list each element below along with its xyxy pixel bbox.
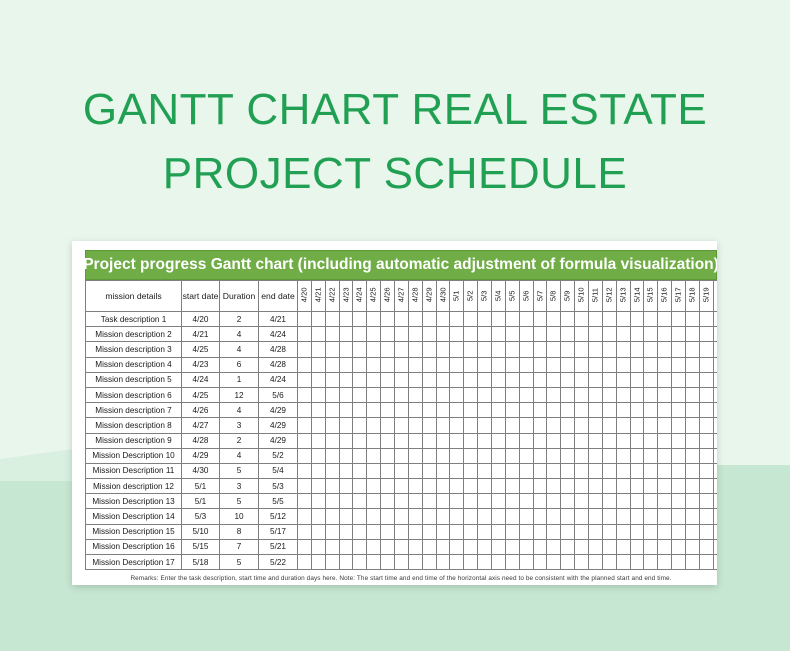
cell-task[interactable]: Mission description 2 xyxy=(86,327,182,342)
gantt-bar-cell[interactable] xyxy=(644,539,658,554)
gantt-empty-cell[interactable] xyxy=(658,555,672,570)
gantt-empty-cell[interactable] xyxy=(422,463,436,478)
cell-duration[interactable]: 4 xyxy=(220,448,259,463)
gantt-empty-cell[interactable] xyxy=(533,433,547,448)
gantt-bar-cell[interactable] xyxy=(644,524,658,539)
table-row[interactable]: Mission description 54/2414/24 xyxy=(86,372,718,387)
gantt-empty-cell[interactable] xyxy=(658,418,672,433)
cell-start[interactable]: 4/26 xyxy=(182,403,220,418)
gantt-empty-cell[interactable] xyxy=(616,372,630,387)
gantt-empty-cell[interactable] xyxy=(298,327,312,342)
gantt-empty-cell[interactable] xyxy=(575,327,589,342)
gantt-bar-cell[interactable] xyxy=(339,327,353,342)
gantt-bar-cell[interactable] xyxy=(450,479,464,494)
table-row[interactable]: Mission description 44/2364/28 xyxy=(86,357,718,372)
gantt-empty-cell[interactable] xyxy=(547,494,561,509)
gantt-empty-cell[interactable] xyxy=(589,555,603,570)
gantt-empty-cell[interactable] xyxy=(547,418,561,433)
gantt-empty-cell[interactable] xyxy=(505,463,519,478)
cell-end[interactable]: 5/5 xyxy=(259,494,298,509)
gantt-empty-cell[interactable] xyxy=(339,509,353,524)
gantt-empty-cell[interactable] xyxy=(602,433,616,448)
gantt-empty-cell[interactable] xyxy=(436,403,450,418)
gantt-empty-cell[interactable] xyxy=(561,539,575,554)
gantt-empty-cell[interactable] xyxy=(602,372,616,387)
gantt-empty-cell[interactable] xyxy=(395,327,409,342)
cell-start[interactable]: 4/29 xyxy=(182,448,220,463)
gantt-empty-cell[interactable] xyxy=(602,357,616,372)
gantt-empty-cell[interactable] xyxy=(298,494,312,509)
gantt-empty-cell[interactable] xyxy=(519,403,533,418)
cell-end[interactable]: 5/22 xyxy=(259,555,298,570)
gantt-empty-cell[interactable] xyxy=(658,342,672,357)
gantt-bar-cell[interactable] xyxy=(575,524,589,539)
gantt-empty-cell[interactable] xyxy=(561,494,575,509)
gantt-bar-cell[interactable] xyxy=(519,387,533,402)
gantt-bar-cell[interactable] xyxy=(353,327,367,342)
cell-duration[interactable]: 5 xyxy=(220,463,259,478)
gantt-empty-cell[interactable] xyxy=(298,479,312,494)
gantt-empty-cell[interactable] xyxy=(686,387,700,402)
table-row[interactable]: Mission description 24/2144/24 xyxy=(86,327,718,342)
gantt-empty-cell[interactable] xyxy=(311,555,325,570)
gantt-empty-cell[interactable] xyxy=(478,312,492,327)
gantt-empty-cell[interactable] xyxy=(533,357,547,372)
gantt-bar-cell[interactable] xyxy=(353,372,367,387)
gantt-empty-cell[interactable] xyxy=(381,509,395,524)
gantt-bar-cell[interactable] xyxy=(325,327,339,342)
gantt-empty-cell[interactable] xyxy=(422,479,436,494)
gantt-bar-cell[interactable] xyxy=(408,387,422,402)
gantt-empty-cell[interactable] xyxy=(505,524,519,539)
table-row[interactable]: Task description 14/2024/21 xyxy=(86,312,718,327)
cell-end[interactable]: 4/29 xyxy=(259,418,298,433)
gantt-empty-cell[interactable] xyxy=(367,555,381,570)
gantt-empty-cell[interactable] xyxy=(713,387,717,402)
gantt-empty-cell[interactable] xyxy=(325,479,339,494)
gantt-empty-cell[interactable] xyxy=(505,327,519,342)
gantt-empty-cell[interactable] xyxy=(478,448,492,463)
cell-duration[interactable]: 5 xyxy=(220,494,259,509)
gantt-empty-cell[interactable] xyxy=(381,463,395,478)
gantt-empty-cell[interactable] xyxy=(381,372,395,387)
gantt-empty-cell[interactable] xyxy=(395,372,409,387)
gantt-empty-cell[interactable] xyxy=(713,509,717,524)
gantt-empty-cell[interactable] xyxy=(311,372,325,387)
gantt-empty-cell[interactable] xyxy=(616,357,630,372)
gantt-empty-cell[interactable] xyxy=(353,524,367,539)
gantt-empty-cell[interactable] xyxy=(422,494,436,509)
gantt-empty-cell[interactable] xyxy=(672,403,686,418)
gantt-empty-cell[interactable] xyxy=(561,463,575,478)
gantt-empty-cell[interactable] xyxy=(713,312,717,327)
gantt-empty-cell[interactable] xyxy=(589,312,603,327)
gantt-empty-cell[interactable] xyxy=(436,539,450,554)
gantt-empty-cell[interactable] xyxy=(492,555,506,570)
gantt-empty-cell[interactable] xyxy=(699,494,713,509)
gantt-empty-cell[interactable] xyxy=(589,403,603,418)
gantt-empty-cell[interactable] xyxy=(422,539,436,554)
gantt-empty-cell[interactable] xyxy=(575,312,589,327)
gantt-empty-cell[interactable] xyxy=(519,448,533,463)
gantt-empty-cell[interactable] xyxy=(533,539,547,554)
gantt-empty-cell[interactable] xyxy=(699,327,713,342)
gantt-empty-cell[interactable] xyxy=(644,342,658,357)
cell-end[interactable]: 5/6 xyxy=(259,387,298,402)
gantt-bar-cell[interactable] xyxy=(298,312,312,327)
gantt-empty-cell[interactable] xyxy=(602,342,616,357)
gantt-bar-cell[interactable] xyxy=(450,494,464,509)
gantt-empty-cell[interactable] xyxy=(422,372,436,387)
gantt-empty-cell[interactable] xyxy=(478,539,492,554)
gantt-empty-cell[interactable] xyxy=(436,479,450,494)
gantt-empty-cell[interactable] xyxy=(325,387,339,402)
cell-end[interactable]: 4/28 xyxy=(259,342,298,357)
gantt-empty-cell[interactable] xyxy=(519,524,533,539)
gantt-empty-cell[interactable] xyxy=(575,479,589,494)
gantt-empty-cell[interactable] xyxy=(699,418,713,433)
gantt-empty-cell[interactable] xyxy=(311,433,325,448)
gantt-empty-cell[interactable] xyxy=(547,539,561,554)
gantt-empty-cell[interactable] xyxy=(422,327,436,342)
cell-end[interactable]: 5/12 xyxy=(259,509,298,524)
gantt-empty-cell[interactable] xyxy=(325,342,339,357)
gantt-empty-cell[interactable] xyxy=(672,342,686,357)
gantt-empty-cell[interactable] xyxy=(492,418,506,433)
gantt-empty-cell[interactable] xyxy=(686,418,700,433)
gantt-empty-cell[interactable] xyxy=(381,494,395,509)
gantt-empty-cell[interactable] xyxy=(339,494,353,509)
gantt-empty-cell[interactable] xyxy=(311,357,325,372)
cell-start[interactable]: 4/28 xyxy=(182,433,220,448)
gantt-empty-cell[interactable] xyxy=(464,312,478,327)
gantt-empty-cell[interactable] xyxy=(713,448,717,463)
gantt-empty-cell[interactable] xyxy=(616,418,630,433)
cell-duration[interactable]: 3 xyxy=(220,479,259,494)
gantt-empty-cell[interactable] xyxy=(464,327,478,342)
gantt-empty-cell[interactable] xyxy=(616,342,630,357)
gantt-bar-cell[interactable] xyxy=(699,539,713,554)
gantt-empty-cell[interactable] xyxy=(353,555,367,570)
gantt-empty-cell[interactable] xyxy=(533,479,547,494)
gantt-bar-cell[interactable] xyxy=(464,448,478,463)
cell-end[interactable]: 5/4 xyxy=(259,463,298,478)
gantt-empty-cell[interactable] xyxy=(644,555,658,570)
gantt-empty-cell[interactable] xyxy=(450,312,464,327)
gantt-empty-cell[interactable] xyxy=(713,524,717,539)
cell-duration[interactable]: 2 xyxy=(220,433,259,448)
gantt-bar-cell[interactable] xyxy=(422,403,436,418)
cell-task[interactable]: Mission Description 13 xyxy=(86,494,182,509)
gantt-empty-cell[interactable] xyxy=(505,433,519,448)
gantt-empty-cell[interactable] xyxy=(686,463,700,478)
cell-duration[interactable]: 4 xyxy=(220,327,259,342)
gantt-empty-cell[interactable] xyxy=(464,403,478,418)
gantt-empty-cell[interactable] xyxy=(298,433,312,448)
gantt-empty-cell[interactable] xyxy=(505,479,519,494)
gantt-empty-cell[interactable] xyxy=(422,342,436,357)
gantt-empty-cell[interactable] xyxy=(450,403,464,418)
gantt-empty-cell[interactable] xyxy=(381,479,395,494)
gantt-empty-cell[interactable] xyxy=(311,509,325,524)
gantt-empty-cell[interactable] xyxy=(464,539,478,554)
gantt-bar-cell[interactable] xyxy=(381,357,395,372)
gantt-bar-cell[interactable] xyxy=(436,463,450,478)
gantt-empty-cell[interactable] xyxy=(464,509,478,524)
gantt-empty-cell[interactable] xyxy=(478,327,492,342)
gantt-empty-cell[interactable] xyxy=(505,539,519,554)
gantt-bar-cell[interactable] xyxy=(464,463,478,478)
gantt-empty-cell[interactable] xyxy=(298,555,312,570)
gantt-empty-cell[interactable] xyxy=(505,372,519,387)
gantt-empty-cell[interactable] xyxy=(616,433,630,448)
gantt-empty-cell[interactable] xyxy=(547,357,561,372)
gantt-bar-cell[interactable] xyxy=(450,463,464,478)
gantt-empty-cell[interactable] xyxy=(644,494,658,509)
gantt-empty-cell[interactable] xyxy=(561,357,575,372)
gantt-empty-cell[interactable] xyxy=(672,479,686,494)
gantt-empty-cell[interactable] xyxy=(658,433,672,448)
gantt-empty-cell[interactable] xyxy=(339,448,353,463)
gantt-empty-cell[interactable] xyxy=(616,494,630,509)
gantt-empty-cell[interactable] xyxy=(672,448,686,463)
gantt-empty-cell[interactable] xyxy=(311,479,325,494)
gantt-empty-cell[interactable] xyxy=(630,539,644,554)
cell-end[interactable]: 5/2 xyxy=(259,448,298,463)
gantt-empty-cell[interactable] xyxy=(436,494,450,509)
cell-duration[interactable]: 4 xyxy=(220,403,259,418)
gantt-empty-cell[interactable] xyxy=(367,403,381,418)
gantt-empty-cell[interactable] xyxy=(408,312,422,327)
cell-duration[interactable]: 8 xyxy=(220,524,259,539)
gantt-empty-cell[interactable] xyxy=(450,418,464,433)
gantt-empty-cell[interactable] xyxy=(589,479,603,494)
gantt-bar-cell[interactable] xyxy=(672,524,686,539)
gantt-empty-cell[interactable] xyxy=(450,524,464,539)
gantt-bar-cell[interactable] xyxy=(395,357,409,372)
gantt-empty-cell[interactable] xyxy=(547,387,561,402)
cell-duration[interactable]: 4 xyxy=(220,342,259,357)
cell-start[interactable]: 5/18 xyxy=(182,555,220,570)
gantt-empty-cell[interactable] xyxy=(713,327,717,342)
gantt-empty-cell[interactable] xyxy=(339,524,353,539)
gantt-empty-cell[interactable] xyxy=(672,433,686,448)
gantt-empty-cell[interactable] xyxy=(575,418,589,433)
gantt-empty-cell[interactable] xyxy=(658,463,672,478)
gantt-empty-cell[interactable] xyxy=(658,403,672,418)
cell-task[interactable]: Mission description 6 xyxy=(86,387,182,402)
gantt-empty-cell[interactable] xyxy=(699,312,713,327)
gantt-empty-cell[interactable] xyxy=(686,312,700,327)
gantt-empty-cell[interactable] xyxy=(533,387,547,402)
gantt-bar-cell[interactable] xyxy=(464,494,478,509)
gantt-empty-cell[interactable] xyxy=(561,418,575,433)
gantt-empty-cell[interactable] xyxy=(699,448,713,463)
gantt-empty-cell[interactable] xyxy=(686,403,700,418)
gantt-bar-cell[interactable] xyxy=(492,494,506,509)
gantt-empty-cell[interactable] xyxy=(547,403,561,418)
gantt-bar-cell[interactable] xyxy=(422,448,436,463)
gantt-bar-cell[interactable] xyxy=(492,509,506,524)
gantt-empty-cell[interactable] xyxy=(422,312,436,327)
table-row[interactable]: Mission description 34/2544/28 xyxy=(86,342,718,357)
gantt-empty-cell[interactable] xyxy=(547,327,561,342)
gantt-empty-cell[interactable] xyxy=(519,342,533,357)
cell-end[interactable]: 4/29 xyxy=(259,433,298,448)
gantt-empty-cell[interactable] xyxy=(533,494,547,509)
gantt-empty-cell[interactable] xyxy=(450,509,464,524)
gantt-bar-cell[interactable] xyxy=(450,387,464,402)
cell-start[interactable]: 4/25 xyxy=(182,342,220,357)
gantt-empty-cell[interactable] xyxy=(381,418,395,433)
gantt-empty-cell[interactable] xyxy=(519,372,533,387)
gantt-empty-cell[interactable] xyxy=(395,312,409,327)
gantt-empty-cell[interactable] xyxy=(395,494,409,509)
gantt-bar-cell[interactable] xyxy=(339,357,353,372)
gantt-empty-cell[interactable] xyxy=(478,403,492,418)
cell-end[interactable]: 5/3 xyxy=(259,479,298,494)
gantt-empty-cell[interactable] xyxy=(298,539,312,554)
gantt-bar-cell[interactable] xyxy=(699,555,713,570)
gantt-empty-cell[interactable] xyxy=(464,372,478,387)
gantt-empty-cell[interactable] xyxy=(644,327,658,342)
gantt-empty-cell[interactable] xyxy=(589,387,603,402)
gantt-bar-cell[interactable] xyxy=(533,509,547,524)
gantt-empty-cell[interactable] xyxy=(311,463,325,478)
gantt-empty-cell[interactable] xyxy=(381,327,395,342)
gantt-bar-cell[interactable] xyxy=(311,312,325,327)
gantt-empty-cell[interactable] xyxy=(505,403,519,418)
gantt-empty-cell[interactable] xyxy=(616,403,630,418)
gantt-empty-cell[interactable] xyxy=(519,357,533,372)
gantt-empty-cell[interactable] xyxy=(630,555,644,570)
cell-end[interactable]: 4/28 xyxy=(259,357,298,372)
gantt-empty-cell[interactable] xyxy=(339,555,353,570)
gantt-empty-cell[interactable] xyxy=(699,524,713,539)
gantt-empty-cell[interactable] xyxy=(353,433,367,448)
gantt-empty-cell[interactable] xyxy=(533,327,547,342)
gantt-empty-cell[interactable] xyxy=(325,312,339,327)
gantt-empty-cell[interactable] xyxy=(339,463,353,478)
gantt-empty-cell[interactable] xyxy=(616,312,630,327)
cell-task[interactable]: Mission description 4 xyxy=(86,357,182,372)
gantt-empty-cell[interactable] xyxy=(630,509,644,524)
gantt-empty-cell[interactable] xyxy=(395,539,409,554)
gantt-empty-cell[interactable] xyxy=(353,387,367,402)
gantt-bar-cell[interactable] xyxy=(686,555,700,570)
gantt-empty-cell[interactable] xyxy=(630,494,644,509)
gantt-empty-cell[interactable] xyxy=(699,433,713,448)
table-row[interactable]: Mission Description 155/1085/17 xyxy=(86,524,718,539)
gantt-empty-cell[interactable] xyxy=(547,555,561,570)
gantt-bar-cell[interactable] xyxy=(353,357,367,372)
gantt-empty-cell[interactable] xyxy=(311,418,325,433)
gantt-bar-cell[interactable] xyxy=(492,387,506,402)
gantt-empty-cell[interactable] xyxy=(713,463,717,478)
gantt-empty-cell[interactable] xyxy=(699,403,713,418)
gantt-empty-cell[interactable] xyxy=(408,509,422,524)
gantt-empty-cell[interactable] xyxy=(367,494,381,509)
table-row[interactable]: Mission description 74/2644/29 xyxy=(86,403,718,418)
gantt-bar-cell[interactable] xyxy=(713,539,717,554)
gantt-empty-cell[interactable] xyxy=(547,312,561,327)
gantt-empty-cell[interactable] xyxy=(478,372,492,387)
gantt-bar-cell[interactable] xyxy=(395,342,409,357)
cell-task[interactable]: Mission description 8 xyxy=(86,418,182,433)
gantt-empty-cell[interactable] xyxy=(547,433,561,448)
gantt-empty-cell[interactable] xyxy=(492,312,506,327)
gantt-empty-cell[interactable] xyxy=(575,403,589,418)
gantt-empty-cell[interactable] xyxy=(686,479,700,494)
gantt-empty-cell[interactable] xyxy=(367,479,381,494)
gantt-bar-cell[interactable] xyxy=(658,524,672,539)
gantt-empty-cell[interactable] xyxy=(686,327,700,342)
table-row[interactable]: Mission Description 104/2945/2 xyxy=(86,448,718,463)
gantt-empty-cell[interactable] xyxy=(699,387,713,402)
gantt-empty-cell[interactable] xyxy=(547,448,561,463)
gantt-empty-cell[interactable] xyxy=(602,463,616,478)
gantt-empty-cell[interactable] xyxy=(561,479,575,494)
gantt-bar-cell[interactable] xyxy=(367,342,381,357)
gantt-empty-cell[interactable] xyxy=(561,448,575,463)
gantt-empty-cell[interactable] xyxy=(367,327,381,342)
gantt-empty-cell[interactable] xyxy=(672,312,686,327)
gantt-empty-cell[interactable] xyxy=(561,342,575,357)
gantt-empty-cell[interactable] xyxy=(533,342,547,357)
gantt-empty-cell[interactable] xyxy=(519,463,533,478)
gantt-empty-cell[interactable] xyxy=(298,448,312,463)
gantt-empty-cell[interactable] xyxy=(630,387,644,402)
gantt-empty-cell[interactable] xyxy=(505,312,519,327)
gantt-empty-cell[interactable] xyxy=(353,463,367,478)
gantt-empty-cell[interactable] xyxy=(408,539,422,554)
gantt-bar-cell[interactable] xyxy=(519,509,533,524)
gantt-empty-cell[interactable] xyxy=(353,403,367,418)
gantt-empty-cell[interactable] xyxy=(519,327,533,342)
cell-task[interactable]: Mission Description 16 xyxy=(86,539,182,554)
gantt-empty-cell[interactable] xyxy=(602,387,616,402)
gantt-empty-cell[interactable] xyxy=(381,555,395,570)
gantt-empty-cell[interactable] xyxy=(589,433,603,448)
table-row[interactable]: Mission Description 165/1575/21 xyxy=(86,539,718,554)
gantt-empty-cell[interactable] xyxy=(533,463,547,478)
gantt-empty-cell[interactable] xyxy=(533,524,547,539)
gantt-empty-cell[interactable] xyxy=(713,357,717,372)
cell-start[interactable]: 5/10 xyxy=(182,524,220,539)
gantt-bar-cell[interactable] xyxy=(713,555,717,570)
gantt-empty-cell[interactable] xyxy=(436,327,450,342)
gantt-empty-cell[interactable] xyxy=(630,372,644,387)
cell-start[interactable]: 5/1 xyxy=(182,494,220,509)
gantt-empty-cell[interactable] xyxy=(644,463,658,478)
gantt-empty-cell[interactable] xyxy=(686,524,700,539)
gantt-empty-cell[interactable] xyxy=(298,342,312,357)
gantt-empty-cell[interactable] xyxy=(367,312,381,327)
gantt-empty-cell[interactable] xyxy=(436,524,450,539)
gantt-empty-cell[interactable] xyxy=(339,312,353,327)
cell-start[interactable]: 5/15 xyxy=(182,539,220,554)
gantt-empty-cell[interactable] xyxy=(395,524,409,539)
gantt-bar-cell[interactable] xyxy=(436,448,450,463)
gantt-empty-cell[interactable] xyxy=(519,312,533,327)
gantt-empty-cell[interactable] xyxy=(464,357,478,372)
gantt-empty-cell[interactable] xyxy=(422,357,436,372)
gantt-empty-cell[interactable] xyxy=(339,372,353,387)
gantt-empty-cell[interactable] xyxy=(367,448,381,463)
gantt-bar-cell[interactable] xyxy=(589,509,603,524)
gantt-empty-cell[interactable] xyxy=(464,342,478,357)
gantt-empty-cell[interactable] xyxy=(353,494,367,509)
